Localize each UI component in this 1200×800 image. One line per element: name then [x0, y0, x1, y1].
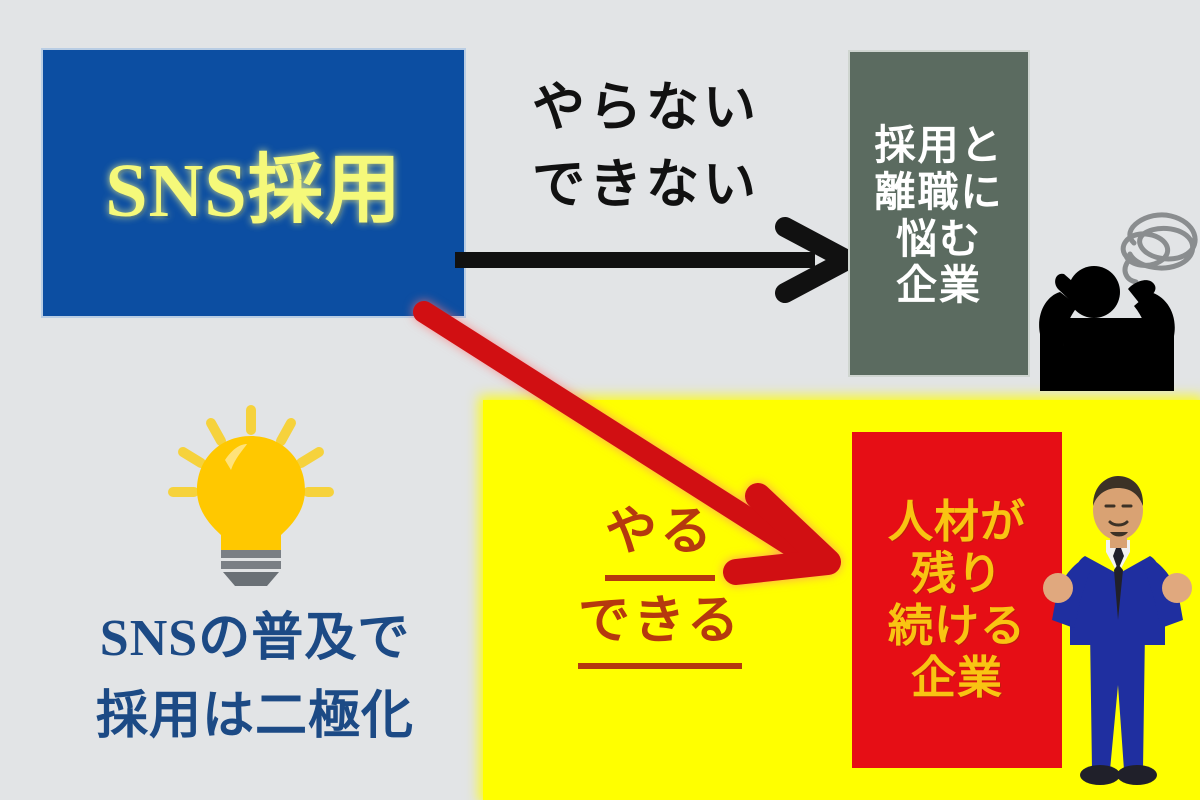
struggling-company-line-4: 企業 [896, 262, 982, 309]
negative-condition-line-1: やらない [496, 70, 796, 147]
sns-recruiting-label: SNS採用 [105, 128, 401, 238]
sns-recruiting-box: SNS採用 [41, 48, 466, 318]
struggling-company-box: 採用と 離職に 悩む 企業 [848, 50, 1030, 377]
positive-condition-line-1: やる [605, 492, 715, 581]
retaining-company-box: 人材が 残り 続ける 企業 [852, 432, 1062, 768]
frustration-scribble-icon [1123, 215, 1195, 282]
right-arrow-icon [455, 215, 855, 305]
struggling-company-line-2: 離職に [875, 169, 1004, 216]
retaining-company-line-4: 企業 [911, 652, 1003, 704]
retaining-company-line-3: 続ける [888, 600, 1026, 652]
struggling-company-line-1: 採用と [875, 122, 1004, 169]
retaining-company-line-2: 残り [911, 548, 1003, 600]
negative-condition-line-2: できない [496, 147, 796, 224]
negative-condition-label: やらない できない [496, 70, 796, 224]
summary-caption: SNSの普及で 採用は二極化 [35, 600, 475, 756]
positive-condition-line-2: できる [578, 581, 742, 670]
retaining-company-line-1: 人材が [888, 496, 1026, 548]
summary-caption-line-1: SNSの普及で [35, 600, 475, 678]
summary-caption-line-2: 採用は二極化 [35, 678, 475, 756]
stressed-person-icon [1016, 196, 1200, 391]
struggling-company-line-3: 悩む [896, 216, 982, 263]
infographic-canvas: SNS採用 やらない できない 採用と 離職に 悩む 企業 [0, 0, 1200, 800]
lightbulb-icon [163, 404, 339, 586]
celebrating-businessman-icon [1040, 470, 1195, 800]
positive-condition-label: やる できる [540, 492, 780, 669]
